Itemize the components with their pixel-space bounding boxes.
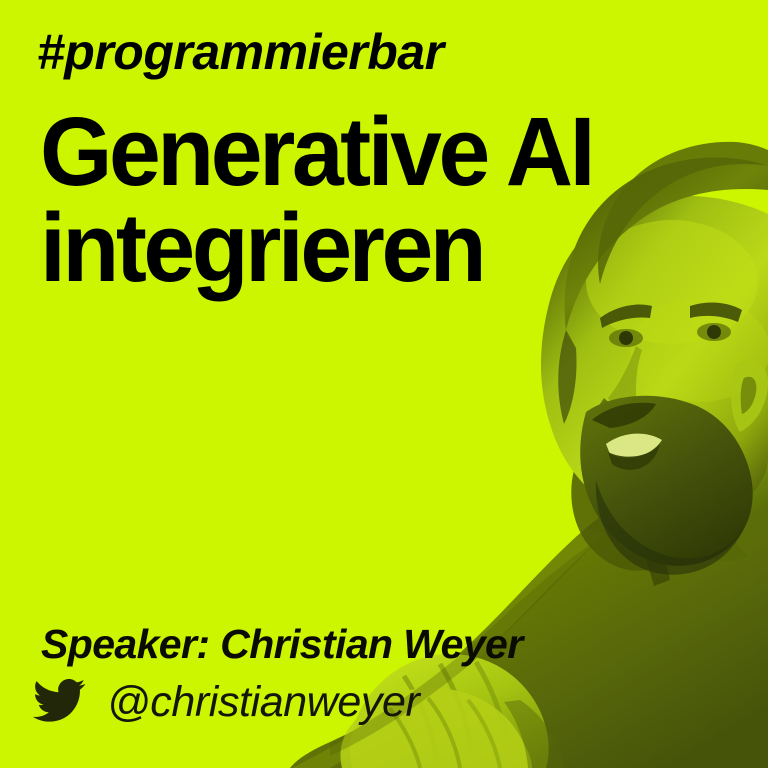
twitter-handle[interactable]: @christianweyer xyxy=(107,681,419,724)
text-layer: #programmierbar Generative AI integriere… xyxy=(0,0,768,768)
speaker-label: Speaker: Christian Weyer xyxy=(41,624,523,665)
session-card: #programmierbar Generative AI integriere… xyxy=(0,0,768,768)
brand-hashtag: #programmierbar xyxy=(37,27,444,77)
twitter-bird-icon[interactable] xyxy=(33,676,91,728)
page-title: Generative AI integrieren xyxy=(40,104,592,296)
social-handle-row[interactable]: @christianweyer xyxy=(33,676,419,728)
